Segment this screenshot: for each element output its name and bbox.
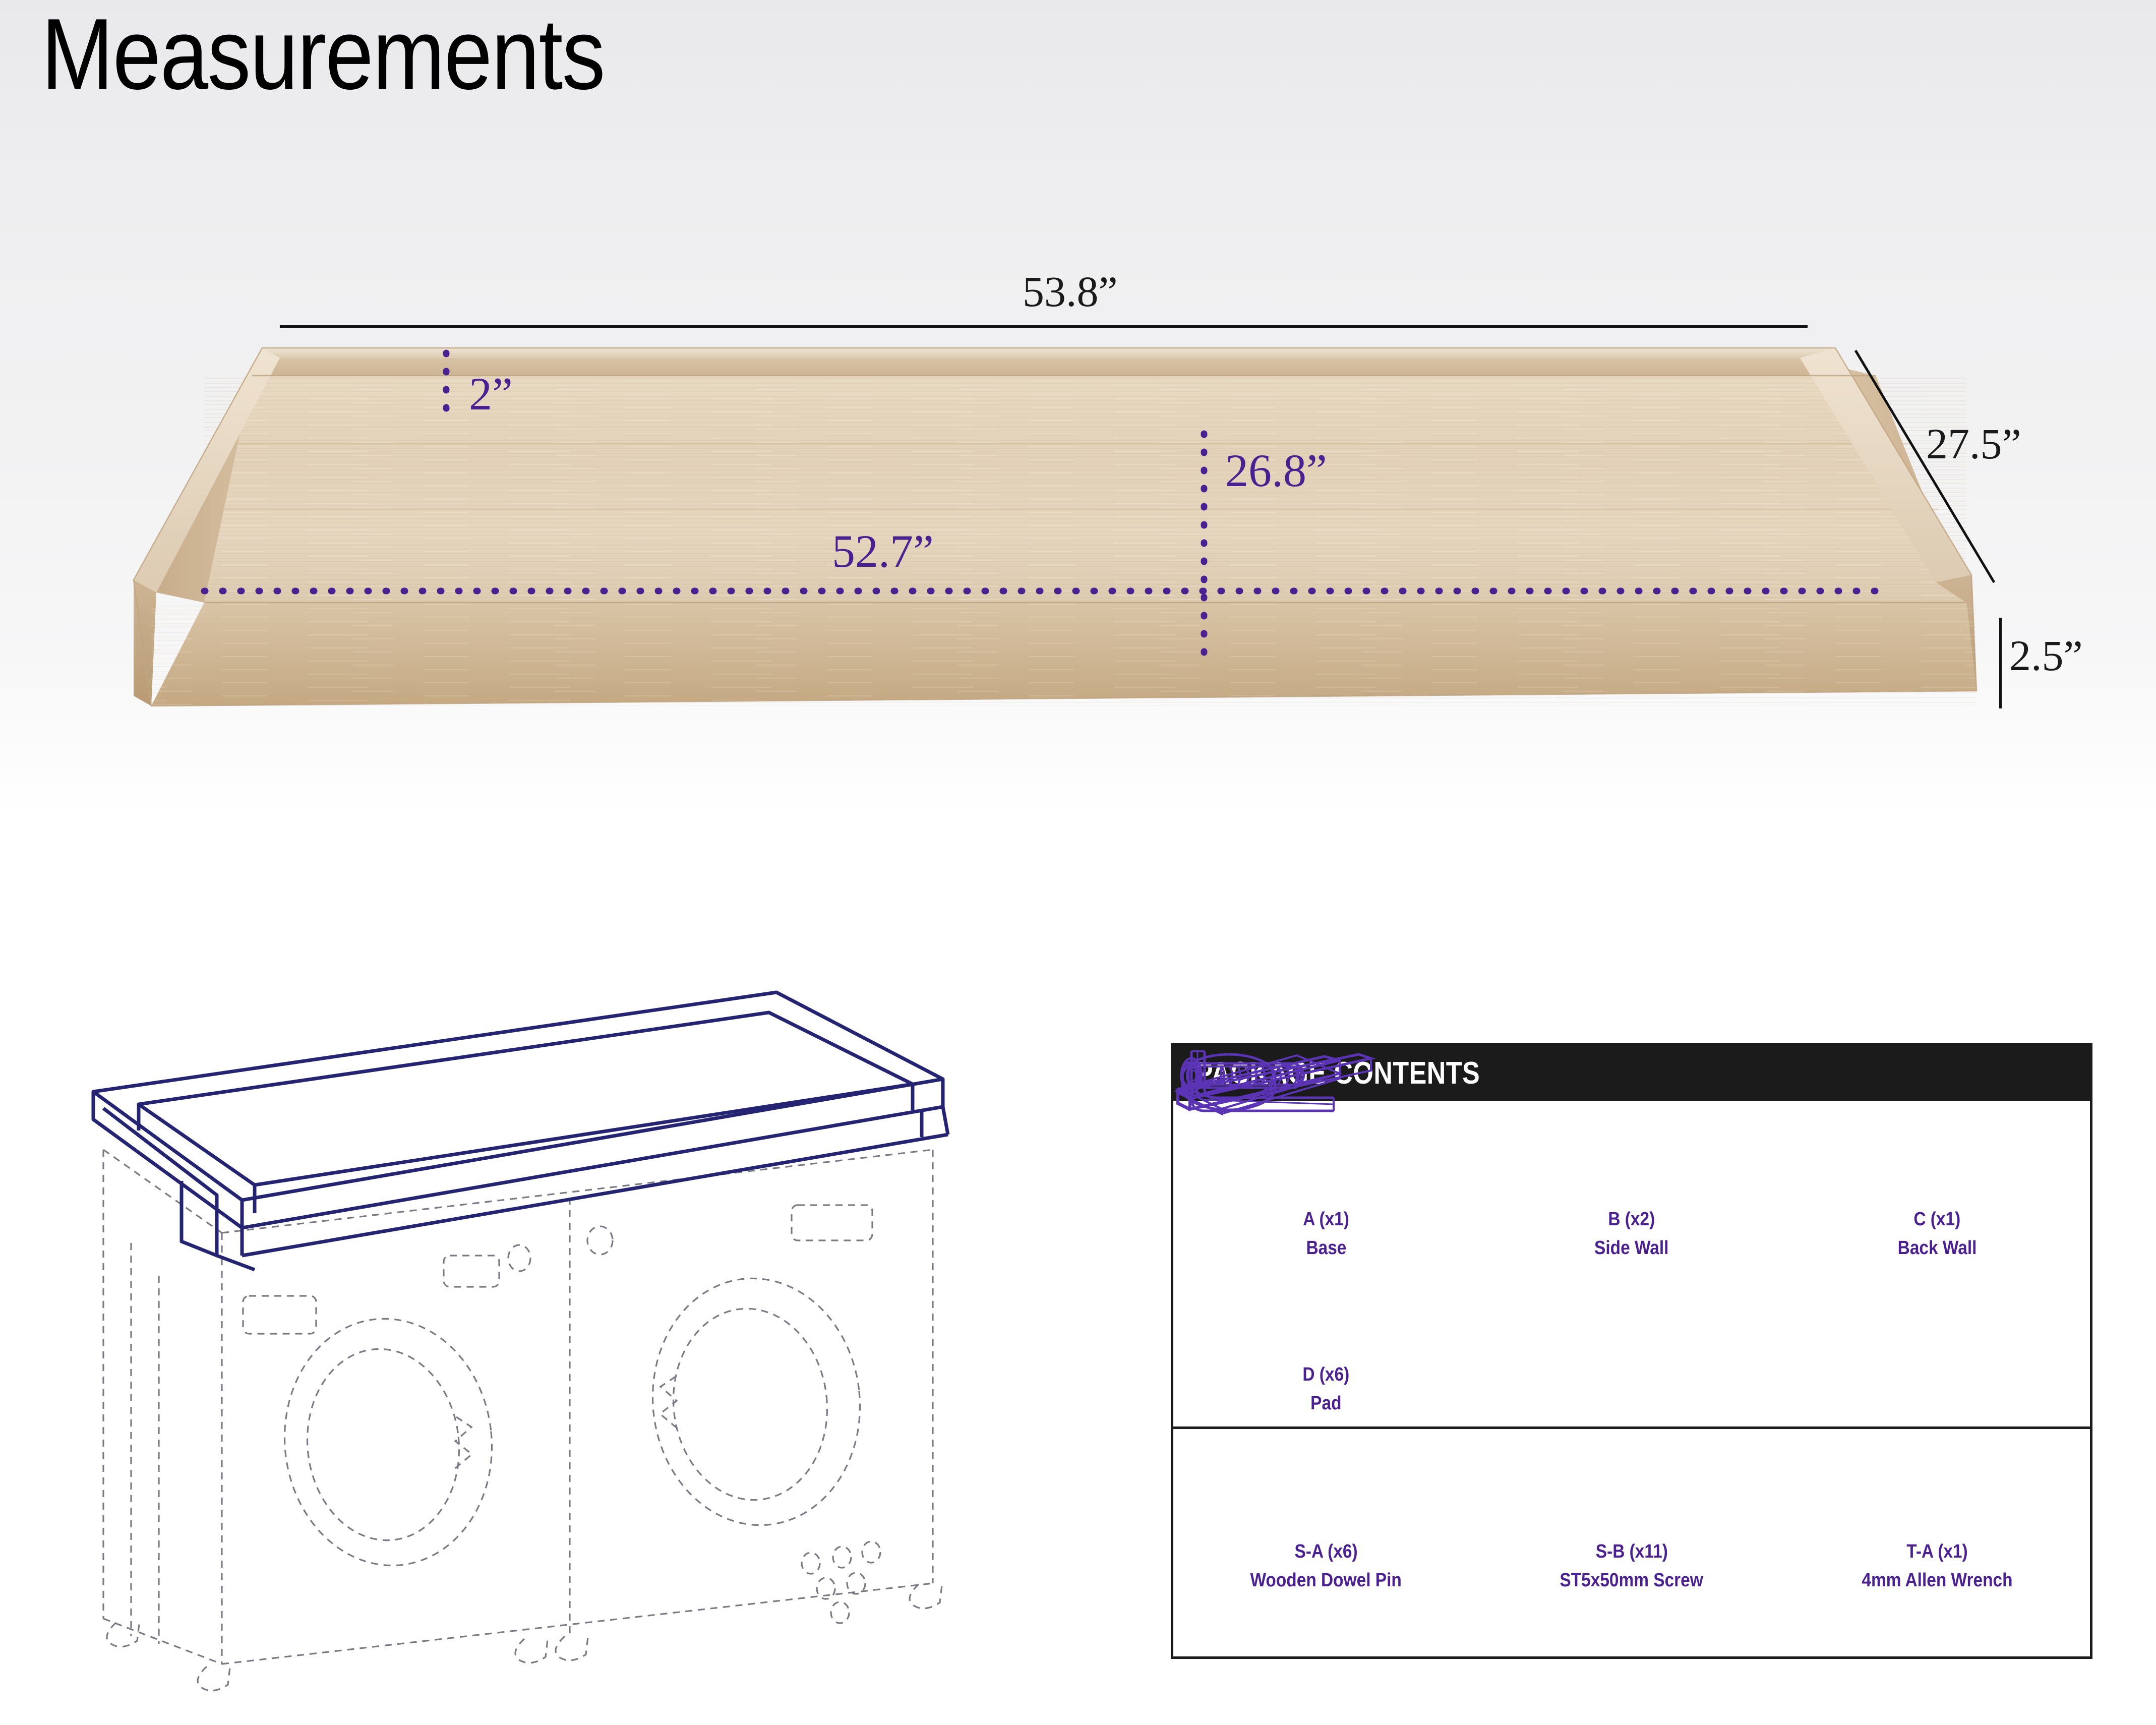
package-item-code: B (x2)	[1608, 1209, 1655, 1230]
dimension-label-depth: 27.5”	[1926, 419, 2021, 469]
package-item-name: 4mm Allen Wrench	[1862, 1570, 2012, 1591]
height-leader-line	[1999, 618, 2002, 708]
package-item-b[interactable]: B (x2) Side Wall	[1479, 1114, 1784, 1259]
package-item-name: ST5x50mm Screw	[1560, 1570, 1703, 1591]
tray-product-illustration	[0, 0, 2156, 817]
package-item-name: Side Wall	[1594, 1237, 1668, 1259]
package-parts-section: A (x1) Base B (x2) Side Wall	[1173, 1101, 2090, 1429]
dimension-label-width: 53.8”	[1023, 266, 1118, 317]
package-parts-spacer-1	[1479, 1259, 1784, 1414]
dimension-label-inner-width: 52.7”	[832, 524, 934, 578]
package-hardware-section: S-A (x6) Wooden Dowel Pin	[1173, 1429, 2090, 1596]
package-item-code: T-A (x1)	[1906, 1541, 1967, 1563]
package-item-name: Wooden Dowel Pin	[1250, 1570, 1402, 1591]
package-item-code: S-B (x11)	[1595, 1541, 1667, 1563]
package-item-code: D (x6)	[1303, 1364, 1350, 1386]
width-leader-line	[280, 325, 1808, 328]
package-item-name: Pad	[1310, 1393, 1341, 1414]
dimension-label-wall-height: 2”	[469, 367, 513, 421]
package-contents-panel: PACKAGE CONTENTS A (x1) Base	[1171, 1043, 2092, 1659]
package-item-c[interactable]: C (x1) Back Wall	[1784, 1114, 2090, 1259]
tray-outline	[93, 992, 948, 1270]
package-item-d[interactable]: D (x6) Pad	[1173, 1259, 1479, 1414]
dimension-label-height: 2.5”	[2009, 630, 2083, 681]
dimension-label-inner-depth: 26.8”	[1225, 444, 1327, 497]
package-item-s-a[interactable]: S-A (x6) Wooden Dowel Pin	[1173, 1446, 1479, 1591]
package-item-name: Back Wall	[1898, 1237, 1977, 1259]
package-parts-spacer-2	[1784, 1259, 2090, 1414]
package-parts-row-1: A (x1) Base B (x2) Side Wall	[1173, 1114, 2090, 1259]
package-item-code: S-A (x6)	[1294, 1541, 1357, 1563]
package-parts-row-2: D (x6) Pad	[1173, 1259, 2090, 1414]
package-item-code: C (x1)	[1914, 1209, 1961, 1230]
package-item-s-b[interactable]: S-B (x11) ST5x50mm Screw	[1479, 1446, 1784, 1591]
package-item-t-a[interactable]: T-A (x1) 4mm Allen Wrench	[1784, 1446, 2090, 1591]
package-item-name: Base	[1306, 1237, 1346, 1259]
package-hardware-row: S-A (x6) Wooden Dowel Pin	[1173, 1446, 2090, 1591]
package-item-a[interactable]: A (x1) Base	[1173, 1114, 1479, 1259]
package-item-code: A (x1)	[1303, 1209, 1349, 1230]
installation-isometric-drawing	[55, 933, 1013, 1699]
appliance-outline	[103, 1150, 942, 1691]
